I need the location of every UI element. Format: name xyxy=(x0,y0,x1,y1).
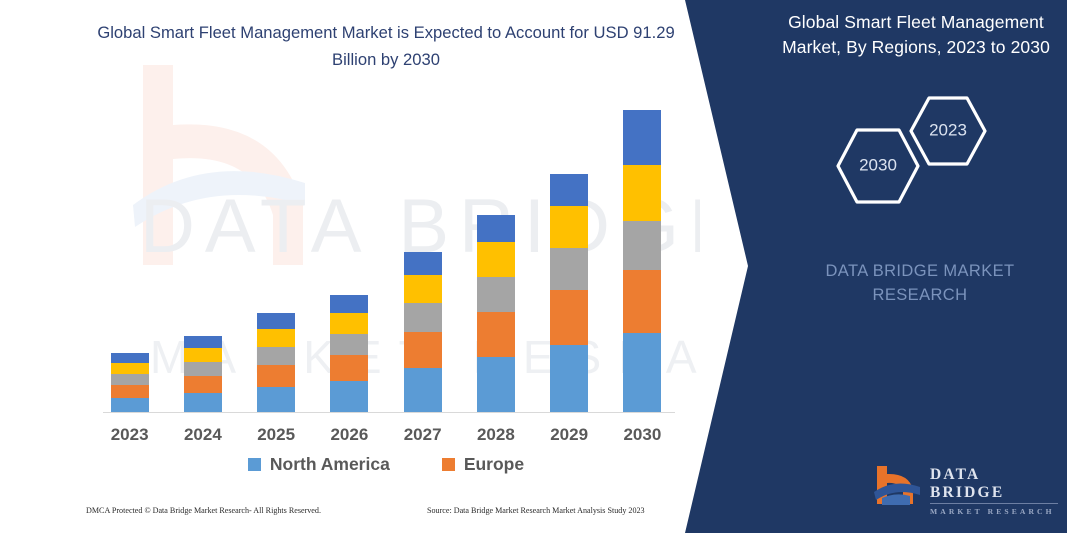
legend-item[interactable]: North America xyxy=(248,454,390,475)
bar-segment xyxy=(111,385,149,398)
hexagon-pair: 2030 2023 xyxy=(815,95,1030,205)
legend-label: Europe xyxy=(464,454,524,475)
company-logo: DATA BRIDGE MARKET RESEARCH xyxy=(872,462,1058,508)
plot-area xyxy=(93,120,679,413)
footer-copyright: DMCA Protected © Data Bridge Market Rese… xyxy=(86,506,321,515)
bar-segment xyxy=(257,313,295,329)
bar-segment xyxy=(111,363,149,374)
stacked-bar xyxy=(404,252,442,412)
logo-sub-text: MARKET RESEARCH xyxy=(930,507,1058,516)
bar-segment xyxy=(111,353,149,363)
bar-segment xyxy=(550,345,588,412)
bar-segment xyxy=(477,357,515,412)
bar-segment xyxy=(550,206,588,247)
x-tick-2028: 2028 xyxy=(465,425,527,445)
bar-segment xyxy=(184,348,222,362)
bar-segment xyxy=(330,381,368,412)
bar-segment xyxy=(257,347,295,365)
bar-column-2026 xyxy=(318,120,380,412)
data-bridge-b-icon xyxy=(872,462,924,508)
bar-segment xyxy=(404,252,442,275)
bar-segment xyxy=(623,165,661,221)
bar-segment xyxy=(623,221,661,270)
x-tick-2027: 2027 xyxy=(392,425,454,445)
footer: DMCA Protected © Data Bridge Market Rese… xyxy=(0,506,700,528)
stacked-bar xyxy=(623,110,661,412)
bar-segment xyxy=(404,303,442,332)
stacked-bar xyxy=(330,295,368,412)
bar-column-2023 xyxy=(99,120,161,412)
x-axis-line xyxy=(103,412,675,413)
x-tick-2029: 2029 xyxy=(538,425,600,445)
stacked-bar xyxy=(257,313,295,412)
bar-column-2025 xyxy=(245,120,307,412)
hexagon-2023: 2023 xyxy=(908,95,988,167)
stacked-bar xyxy=(111,353,149,412)
bar-group xyxy=(93,120,679,412)
bar-segment xyxy=(623,333,661,412)
bar-segment xyxy=(257,365,295,387)
infographic-root: DATA BRIDGE MARKET RESEARCH Global Smart… xyxy=(0,0,1067,533)
bar-segment xyxy=(404,332,442,368)
bar-segment xyxy=(477,312,515,356)
bar-segment xyxy=(184,362,222,376)
bar-segment xyxy=(184,393,222,412)
bar-segment xyxy=(330,355,368,381)
bar-segment xyxy=(111,374,149,385)
stacked-bar xyxy=(550,174,588,412)
bar-segment xyxy=(477,242,515,277)
legend-swatch-icon xyxy=(248,458,261,471)
footer-source: Source: Data Bridge Market Research Mark… xyxy=(427,506,645,515)
bar-column-2029 xyxy=(538,120,600,412)
bar-segment xyxy=(111,398,149,412)
x-tick-2025: 2025 xyxy=(245,425,307,445)
bar-column-2027 xyxy=(392,120,454,412)
bar-column-2028 xyxy=(465,120,527,412)
bar-segment xyxy=(184,336,222,348)
bar-segment xyxy=(330,295,368,313)
stacked-bar xyxy=(184,336,222,412)
x-tick-2024: 2024 xyxy=(172,425,234,445)
bar-segment xyxy=(623,270,661,333)
bar-column-2030 xyxy=(611,120,673,412)
bar-segment xyxy=(550,174,588,207)
legend-swatch-icon xyxy=(442,458,455,471)
stacked-bar xyxy=(477,215,515,412)
panel-title: Global Smart Fleet Management Market, By… xyxy=(772,10,1060,60)
logo-main-text: DATA BRIDGE xyxy=(930,466,1058,504)
panel-brand-text: DATA BRIDGE MARKET RESEARCH xyxy=(800,260,1040,308)
chart-title: Global Smart Fleet Management Market is … xyxy=(93,20,679,73)
bar-segment xyxy=(257,329,295,347)
chart-legend: North AmericaEurope xyxy=(93,454,679,504)
bar-segment xyxy=(184,376,222,393)
bar-column-2024 xyxy=(172,120,234,412)
bar-segment xyxy=(404,368,442,412)
bar-segment xyxy=(257,387,295,412)
x-axis-labels: 20232024202520262027202820292030 xyxy=(93,425,679,445)
x-tick-2030: 2030 xyxy=(611,425,673,445)
bar-segment xyxy=(330,334,368,355)
x-tick-2023: 2023 xyxy=(99,425,161,445)
bar-segment xyxy=(550,290,588,344)
legend-item[interactable]: Europe xyxy=(442,454,524,475)
bar-segment xyxy=(550,248,588,291)
bar-segment xyxy=(623,110,661,165)
bar-segment xyxy=(477,215,515,242)
bar-segment xyxy=(404,275,442,303)
hexagon-2023-label: 2023 xyxy=(908,121,988,141)
x-tick-2026: 2026 xyxy=(318,425,380,445)
logo-text: DATA BRIDGE MARKET RESEARCH xyxy=(930,466,1058,516)
bar-segment xyxy=(477,277,515,312)
legend-label: North America xyxy=(270,454,390,475)
bar-segment xyxy=(330,313,368,334)
